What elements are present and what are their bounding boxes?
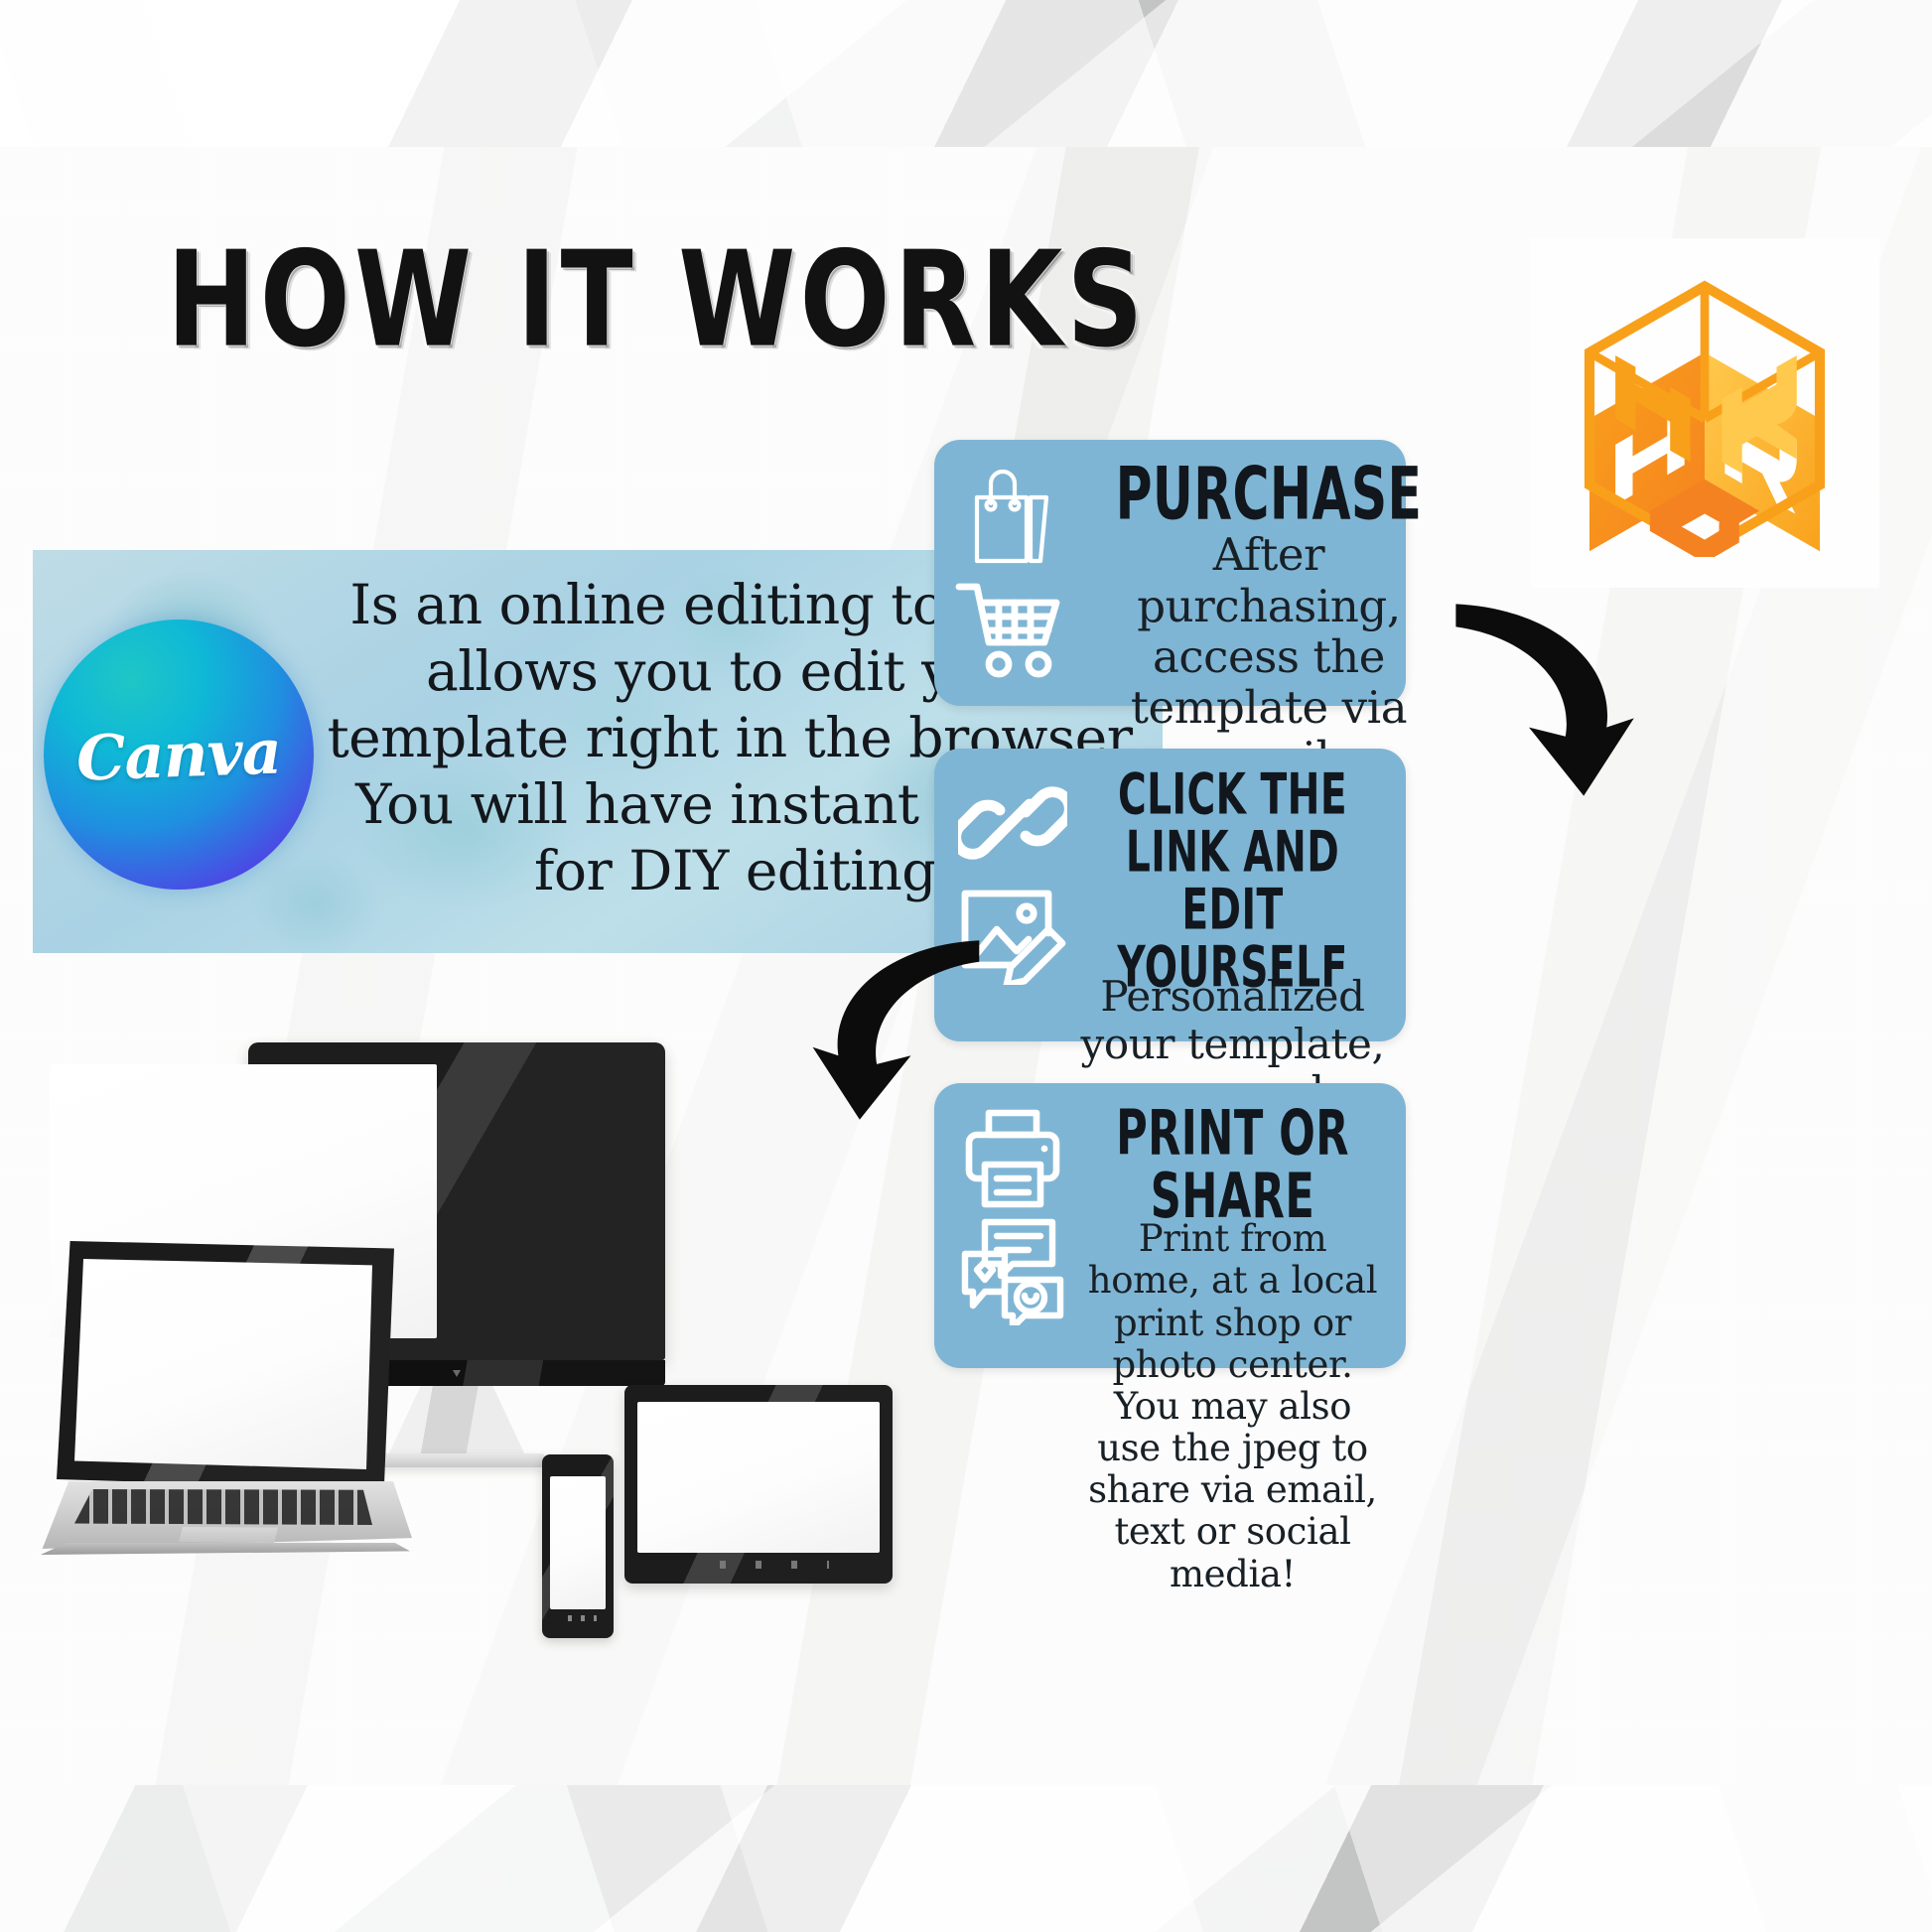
laptop-trackpad <box>179 1527 278 1543</box>
phone-controls <box>559 1615 597 1621</box>
share-chat-icon <box>957 1216 1068 1325</box>
canva-wordmark: Canva <box>75 715 282 794</box>
logo-card <box>1530 238 1879 588</box>
phone-screen <box>550 1476 606 1609</box>
poster-canvas: HOW IT WORKS <box>0 0 1932 1932</box>
click-heading: CLICK THE LINK AND EDIT YOURSELF <box>1108 766 1356 997</box>
canva-logo-circle: Canva <box>44 620 314 890</box>
tablet-controls <box>690 1561 829 1569</box>
chain-link-icon <box>958 770 1067 876</box>
print-body: Print from home, at a local print shop o… <box>1077 1218 1388 1595</box>
purchase-icon-group <box>948 454 1077 678</box>
shopping-cart-icon <box>955 577 1070 678</box>
laptop-front-edge <box>37 1543 410 1555</box>
monitor-stand-base <box>370 1453 545 1467</box>
laptop-keyboard <box>74 1489 372 1525</box>
purchase-body: After purchasing, access the template vi… <box>1077 529 1460 783</box>
step-card-purchase[interactable]: PURCHASE After purchasing, access the te… <box>934 440 1406 706</box>
laptop-screen <box>74 1259 372 1469</box>
print-heading: PRINT OR SHARE <box>1108 1101 1356 1228</box>
print-text: PRINT OR SHARE Print from home, at a loc… <box>1077 1097 1388 1595</box>
shopping-bag-icon <box>959 462 1066 571</box>
curved-arrow-down-left <box>1415 586 1643 814</box>
tablet-screen <box>637 1402 880 1553</box>
purchase-heading: PURCHASE <box>1116 458 1423 532</box>
monitor-stand-neck <box>387 1386 526 1457</box>
purchase-text: PURCHASE After purchasing, access the te… <box>1077 454 1460 784</box>
hrg-cube-logo <box>1561 269 1849 557</box>
page-title: HOW IT WORKS <box>167 233 1148 365</box>
curved-arrow-down-right <box>804 908 1018 1152</box>
